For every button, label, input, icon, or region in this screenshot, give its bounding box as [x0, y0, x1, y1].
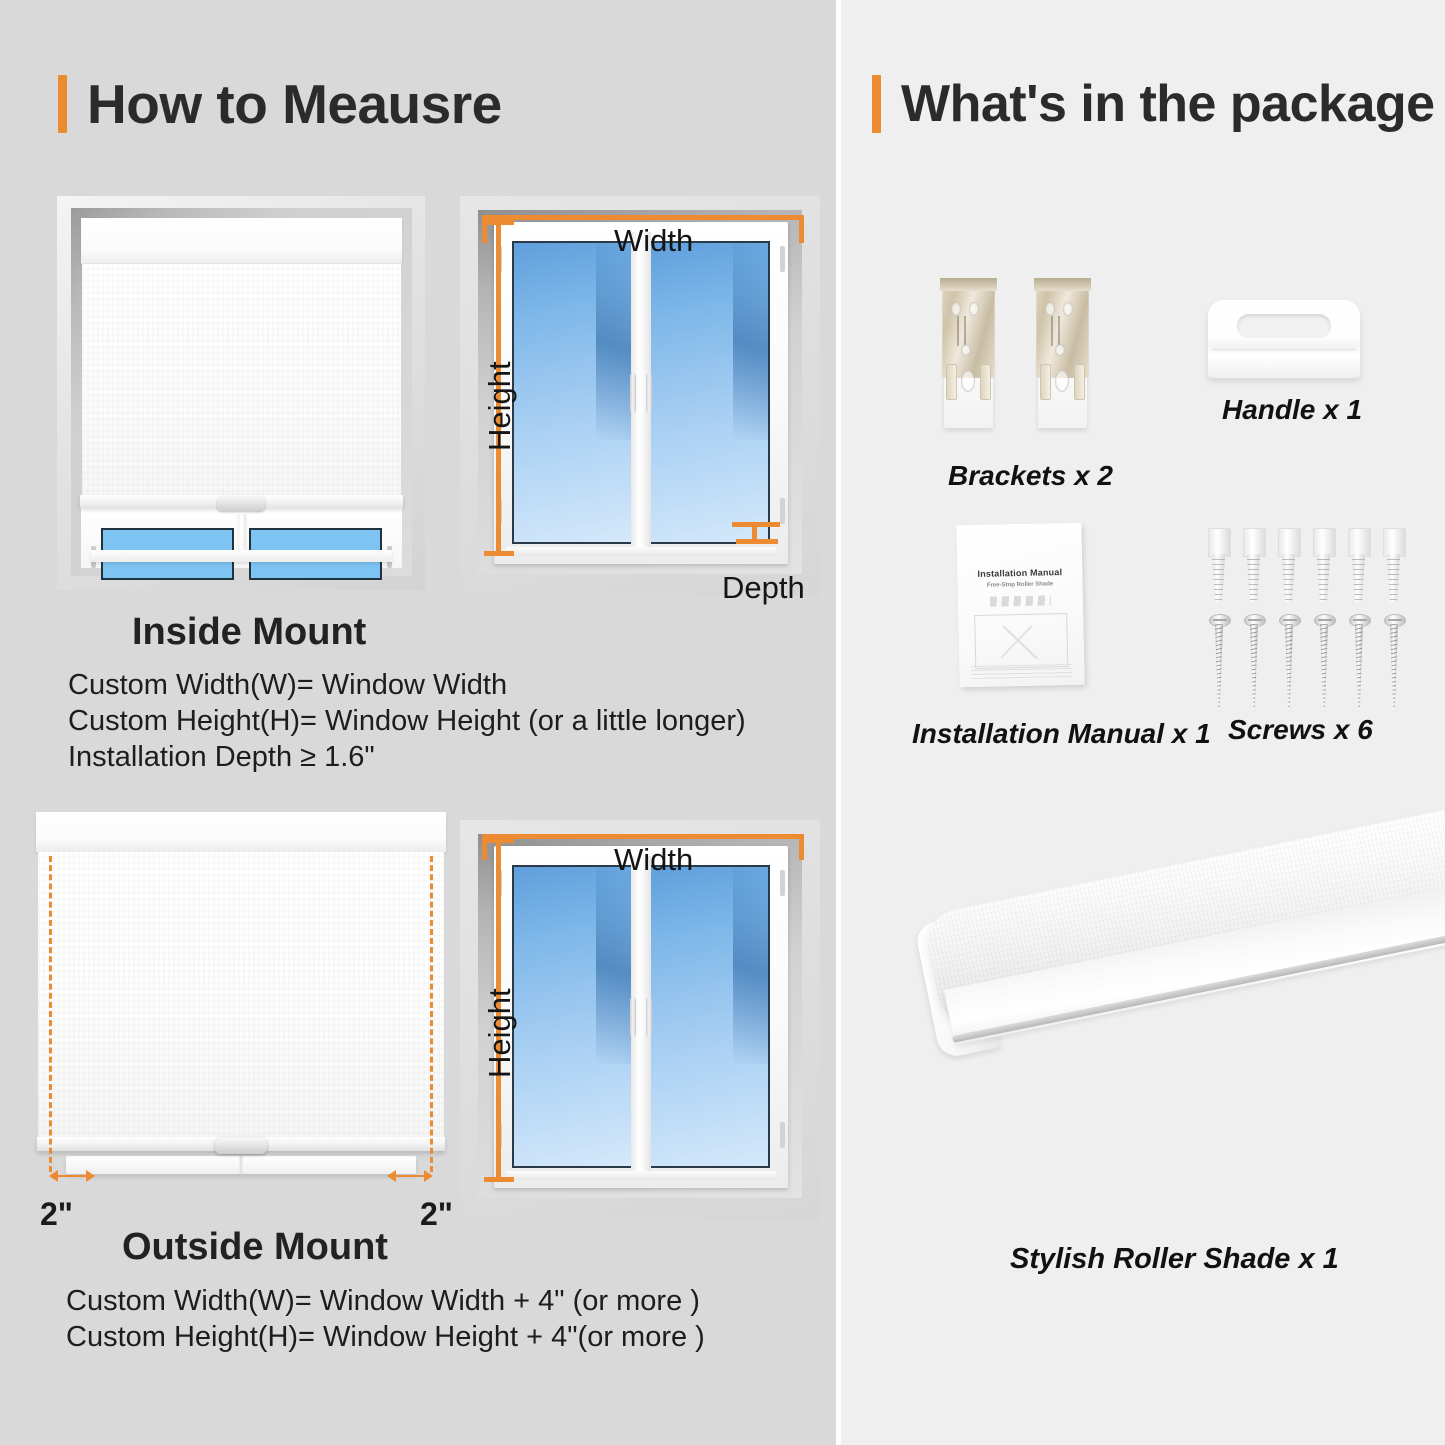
- screw-icon: [1384, 614, 1404, 710]
- inside-mount-line-3: Installation Depth ≥ 1.6": [68, 740, 375, 775]
- handle-icon: [1208, 300, 1360, 378]
- bracket-hole: [1055, 344, 1065, 356]
- overhang-arrow-left: [49, 1170, 95, 1182]
- screw-icon: [1349, 614, 1369, 710]
- shade-fabric: [38, 852, 444, 1140]
- shade-headrail: [36, 812, 446, 852]
- bracket-icon: [1034, 278, 1091, 428]
- bracket-center-slot: [1055, 370, 1069, 392]
- bracket-top-lip: [940, 278, 997, 291]
- inside-mount-line-1: Custom Width(W)= Window Width: [68, 668, 507, 703]
- screw-icon: [1279, 614, 1299, 710]
- bracket-tab-right: [1074, 364, 1085, 400]
- manual-icon: Installation Manual Free-Stop Roller Sha…: [956, 523, 1084, 688]
- sash-clip-icon: [780, 498, 785, 524]
- sash-clip-icon: [780, 1122, 785, 1148]
- height-label: Height: [482, 361, 518, 451]
- manual-label: Installation Manual x 1: [912, 718, 1211, 750]
- window-frame: [494, 222, 788, 564]
- outside-mount-title: Outside Mount: [122, 1226, 388, 1269]
- bracket-hole: [1063, 302, 1073, 316]
- bracket-hole: [951, 302, 961, 316]
- shade-pull-handle-icon: [215, 1138, 267, 1154]
- width-label: Width: [614, 223, 693, 259]
- window-handle-left-icon: [630, 997, 636, 1037]
- window-sill: [66, 1156, 416, 1174]
- wall-anchor-icon: [1348, 528, 1369, 602]
- bracket-top-lip: [1034, 278, 1091, 291]
- right-heading-text: What's in the package: [901, 74, 1435, 134]
- bracket-crease: [1058, 316, 1060, 346]
- wall-anchor-icon: [1208, 528, 1229, 602]
- right-panel-heading: What's in the package: [872, 74, 1435, 134]
- bracket-tab-left: [1040, 364, 1051, 400]
- manual-cover-scribble: [990, 595, 1051, 606]
- height-guide-cap-bottom: [484, 551, 514, 556]
- glass-pane-left: [512, 865, 634, 1168]
- overhang-right-label: 2": [420, 1196, 453, 1233]
- manual-cover-footer: [971, 663, 1072, 679]
- outside-mount-line-2: Custom Height(H)= Window Height + 4"(or …: [66, 1320, 705, 1355]
- bracket-icon: [940, 278, 997, 428]
- wall-anchor-icon: [1383, 528, 1404, 602]
- bracket-hole: [1045, 302, 1055, 316]
- overhang-left-label: 2": [40, 1196, 73, 1233]
- width-guide-cap-right: [799, 215, 804, 243]
- height-guide-cap-top: [484, 838, 514, 843]
- window-sill: [91, 550, 392, 562]
- depth-label: Depth: [722, 570, 805, 606]
- accent-bar-icon: [872, 75, 881, 133]
- manual-cover-subtitle: Free-Stop Roller Shade: [966, 581, 1075, 589]
- window-sash: [81, 508, 402, 568]
- outside-mount-line-1: Custom Width(W)= Window Width + 4" (or m…: [66, 1284, 700, 1319]
- width-guide-cap-right: [799, 834, 804, 860]
- shade-fabric: [82, 264, 401, 498]
- roller-shade-label: Stylish Roller Shade x 1: [1010, 1243, 1339, 1276]
- how-to-measure-panel: How to Meausre: [0, 0, 836, 1445]
- sash-clip-icon: [780, 246, 785, 272]
- outside-mount-window-diagram: Width Height: [460, 820, 820, 1220]
- left-heading-text: How to Meausre: [87, 72, 502, 136]
- manual-cover-diagram: [974, 613, 1068, 669]
- screw-icon: [1244, 614, 1264, 710]
- shade-pull-handle-icon: [217, 496, 265, 511]
- overhang-dashed-line-left: [49, 856, 52, 1172]
- height-label: Height: [482, 988, 518, 1078]
- bracket-crease: [1051, 316, 1053, 346]
- width-label: Width: [614, 842, 693, 878]
- glass-pane-right: [648, 865, 770, 1168]
- inside-mount-window-diagram: Width Height Depth: [460, 196, 820, 596]
- height-guide-cap-top: [484, 220, 514, 225]
- window-handle-right-icon: [646, 373, 652, 413]
- wall-anchor-icon: [1278, 528, 1299, 602]
- window-handle-left-icon: [630, 373, 636, 413]
- bracket-tab-left: [946, 364, 957, 400]
- bracket-hole: [969, 302, 979, 316]
- window-handle-right-icon: [646, 997, 652, 1037]
- bracket-hole: [961, 344, 971, 356]
- bracket-metal-body: [1034, 278, 1091, 378]
- window-frame: [494, 846, 788, 1188]
- wall-anchor-icon: [1313, 528, 1334, 602]
- screw-icon: [1209, 614, 1229, 710]
- shade-headrail: [81, 218, 402, 264]
- window-sill: [506, 547, 776, 556]
- bracket-center-slot: [961, 370, 975, 392]
- roller-shade-icon: [900, 880, 1445, 1215]
- outside-mount-shade-illustration: [36, 812, 446, 1195]
- inside-mount-line-2: Custom Height(H)= Window Height (or a li…: [68, 704, 746, 739]
- overhang-arrow-right: [387, 1170, 433, 1182]
- bracket-crease: [964, 316, 966, 346]
- bracket-tab-right: [980, 364, 991, 400]
- inside-mount-shade-illustration: [57, 196, 425, 590]
- bracket-metal-body: [940, 278, 997, 378]
- depth-guide-base: [736, 539, 778, 544]
- width-guide-line: [482, 834, 804, 839]
- sash-clip-icon: [780, 870, 785, 896]
- height-guide-cap-bottom: [484, 1177, 514, 1182]
- left-panel-heading: How to Meausre: [58, 72, 502, 136]
- glass-pane-right: [648, 241, 770, 544]
- window-sill: [506, 1171, 776, 1180]
- infographic-page: How to Meausre: [0, 0, 1445, 1445]
- brackets-label: Brackets x 2: [948, 460, 1113, 492]
- bracket-crease: [957, 316, 959, 346]
- accent-bar-icon: [58, 75, 67, 133]
- handle-label: Handle x 1: [1222, 394, 1362, 426]
- screws-label: Screws x 6: [1228, 714, 1373, 746]
- overhang-dashed-line-right: [430, 856, 433, 1172]
- width-guide-line: [482, 215, 804, 220]
- inside-mount-title: Inside Mount: [132, 611, 366, 654]
- manual-cover-title: Installation Manual: [965, 567, 1074, 579]
- screw-icon: [1314, 614, 1334, 710]
- glass-pane-left: [512, 241, 634, 544]
- wall-anchor-icon: [1243, 528, 1264, 602]
